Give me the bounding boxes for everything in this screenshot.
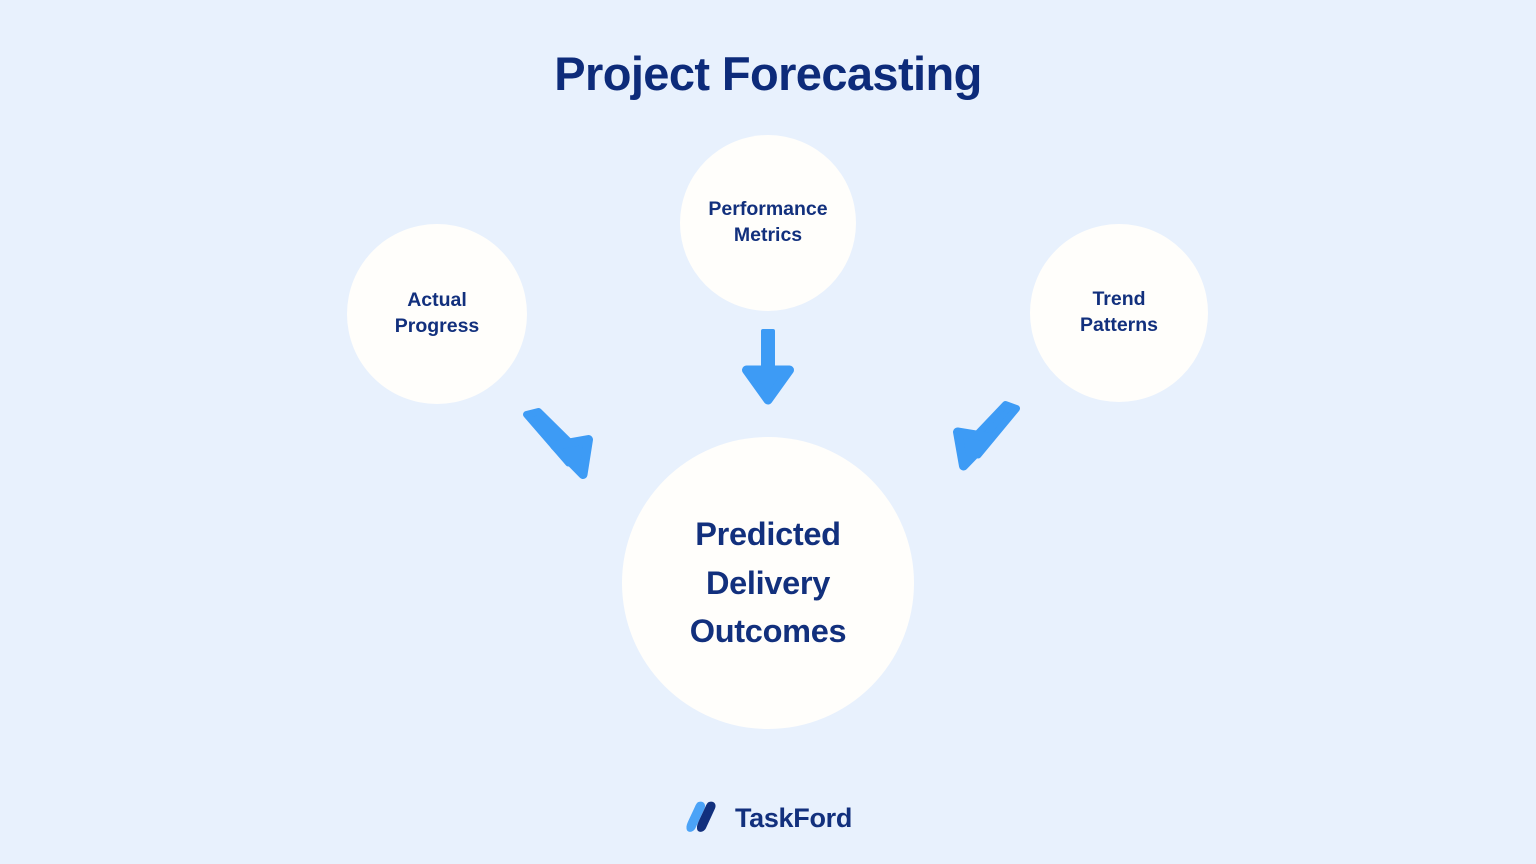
taskford-logo-icon — [684, 798, 724, 838]
arrow-down-icon — [742, 327, 794, 407]
node-actual-progress: Actual Progress — [347, 224, 527, 404]
node-trend-patterns: Trend Patterns — [1030, 224, 1208, 402]
node-performance-metrics-label: Performance Metrics — [708, 197, 827, 248]
arrow-down-right-icon — [518, 412, 598, 484]
page-title: Project Forecasting — [0, 48, 1536, 100]
brand-name: TaskFord — [735, 805, 852, 832]
node-predicted-delivery-outcomes: Predicted Delivery Outcomes — [622, 437, 914, 729]
arrow-down-left-icon — [955, 405, 1027, 477]
node-predicted-delivery-outcomes-label: Predicted Delivery Outcomes — [690, 510, 847, 656]
node-trend-patterns-label: Trend Patterns — [1080, 287, 1158, 338]
node-performance-metrics: Performance Metrics — [680, 135, 856, 311]
brand-footer: TaskFord — [0, 798, 1536, 838]
diagram-canvas: Project Forecasting Actual Progress Perf… — [0, 0, 1536, 864]
node-actual-progress-label: Actual Progress — [395, 288, 480, 339]
